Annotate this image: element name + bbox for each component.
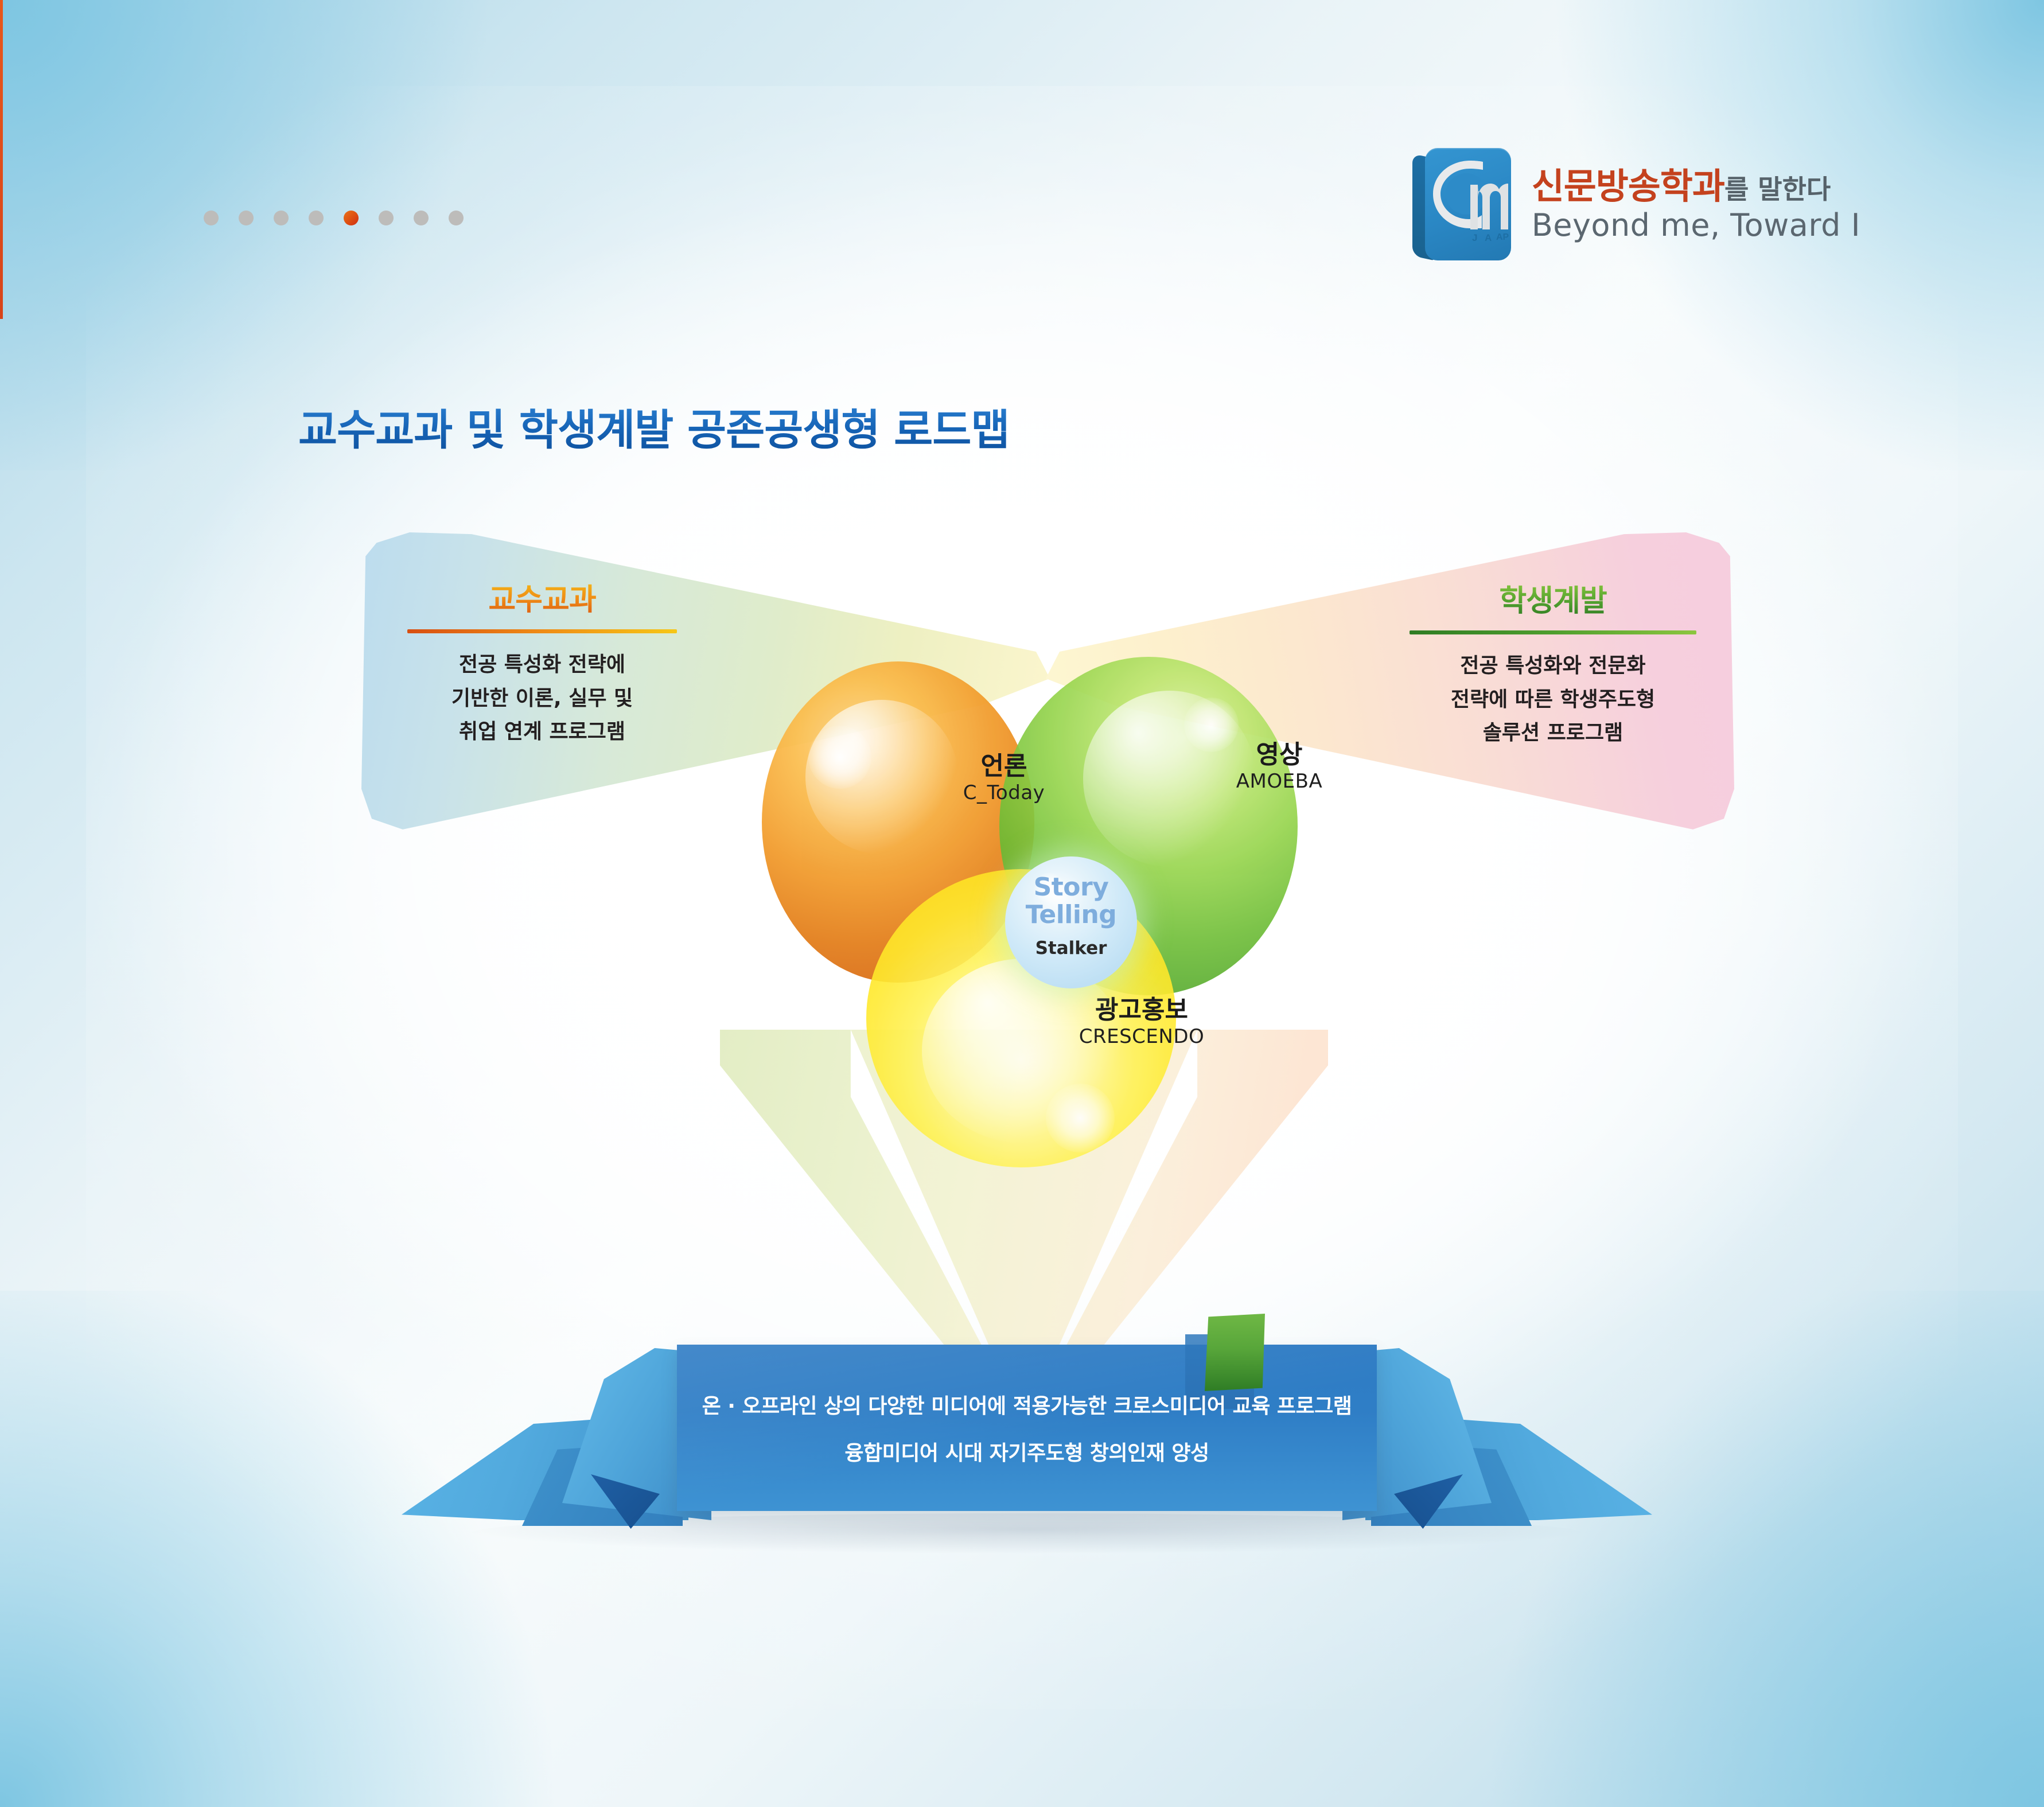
pagination-dot-6[interactable] <box>379 211 394 225</box>
sphere-advertising-highlight <box>1046 1084 1115 1152</box>
left-edge-accent-bar <box>0 0 3 319</box>
sphere-video-label-en: AMOEBA <box>992 770 1566 793</box>
wing-right-heading: 학생계발 <box>1499 585 1606 618</box>
brand-title-bold: 신문방송학과 <box>1532 165 1724 207</box>
slide-canvas: J A AP 신문방송학과를 말한다 Beyond me, Toward I 교… <box>0 0 2044 1807</box>
sphere-video-label: 영상 AMOEBA <box>992 740 1566 793</box>
wing-right-body-line-1: 전공 특성화와 전문화 <box>1451 649 1655 683</box>
brand-title-line: 신문방송학과를 말한다 <box>1532 168 1860 205</box>
pagination-dot-5-active[interactable] <box>344 211 359 225</box>
sphere-storytelling[interactable]: Story Telling Stalker <box>1005 856 1137 988</box>
pagination-dot-7[interactable] <box>414 211 429 225</box>
pagination-dot-4[interactable] <box>309 211 324 225</box>
ribbon-line-2: 융합미디어 시대 자기주도형 창의인재 양성 <box>844 1436 1209 1466</box>
bottom-ribbon-banner: 온 · 오프라인 상의 다양한 미디어에 적용가능한 크로스미디어 교육 프로그… <box>402 1337 1652 1526</box>
logo-face: J A AP <box>1425 148 1511 260</box>
ribbon-line-1: 온 · 오프라인 상의 다양한 미디어에 적용가능한 크로스미디어 교육 프로그… <box>702 1389 1352 1419</box>
brand-lockup: J A AP 신문방송학과를 말한다 Beyond me, Toward I <box>1412 148 1860 263</box>
pagination-dot-3[interactable] <box>274 211 289 225</box>
wing-left-body-line-1: 전공 특성화 전략에 <box>451 648 633 681</box>
sphere-storytelling-sub: Stalker <box>1005 938 1137 959</box>
wing-left-body-line-3: 취업 연계 프로그램 <box>451 715 633 749</box>
svg-text:A: A <box>1485 232 1492 243</box>
pagination-dot-2[interactable] <box>239 211 254 225</box>
sphere-advertising-label: 광고홍보 CRESCENDO <box>855 995 1428 1048</box>
sphere-video-label-kr: 영상 <box>992 740 1566 770</box>
logo-glyph-svg: J A AP <box>1425 148 1511 260</box>
cm-logo-icon: J A AP <box>1412 148 1513 263</box>
pagination-dot-8[interactable] <box>449 211 464 225</box>
svg-text:AP: AP <box>1496 232 1509 242</box>
brand-text-block: 신문방송학과를 말한다 Beyond me, Toward I <box>1532 168 1860 243</box>
ribbon-text-block: 온 · 오프라인 상의 다양한 미디어에 적용가능한 크로스미디어 교육 프로그… <box>677 1345 1377 1511</box>
pagination-dot-1[interactable] <box>204 211 219 225</box>
wing-left-divider <box>407 629 677 633</box>
brand-tagline: Beyond me, Toward I <box>1532 207 1860 243</box>
sphere-storytelling-line1: Story <box>1005 874 1137 901</box>
sphere-storytelling-title: Story Telling <box>1005 874 1137 928</box>
wing-left-body-line-2: 기반한 이론, 실무 및 <box>451 682 633 715</box>
page-title: 교수교과 및 학생계발 공존공생형 로드맵 <box>298 396 1009 457</box>
wing-right-divider <box>1410 630 1696 634</box>
brand-title-light: 를 말한다 <box>1724 174 1831 205</box>
svg-text:J: J <box>1472 232 1477 243</box>
wing-left-content: 교수교과 전공 특성화 전략에 기반한 이론, 실무 및 취업 연계 프로그램 <box>407 584 677 749</box>
wing-right-content: 학생계발 전공 특성화와 전문화 전략에 따른 학생주도형 솔루션 프로그램 <box>1410 585 1696 750</box>
sphere-storytelling-line2: Telling <box>1005 901 1137 929</box>
sphere-advertising-label-en: CRESCENDO <box>855 1025 1428 1048</box>
wing-left-heading: 교수교과 <box>488 584 595 617</box>
sphere-advertising-label-kr: 광고홍보 <box>855 995 1428 1025</box>
wing-right-body-line-2: 전략에 따른 학생주도형 <box>1451 683 1655 716</box>
wing-right-body: 전공 특성화와 전문화 전략에 따른 학생주도형 솔루션 프로그램 <box>1451 649 1655 750</box>
wing-left-body: 전공 특성화 전략에 기반한 이론, 실무 및 취업 연계 프로그램 <box>451 648 633 749</box>
pagination-dots[interactable] <box>204 211 464 225</box>
venn-sphere-cluster: 언론 C_Today 영상 AMOEBA 광고홍보 CRESCENDO Stor… <box>740 651 1314 1179</box>
